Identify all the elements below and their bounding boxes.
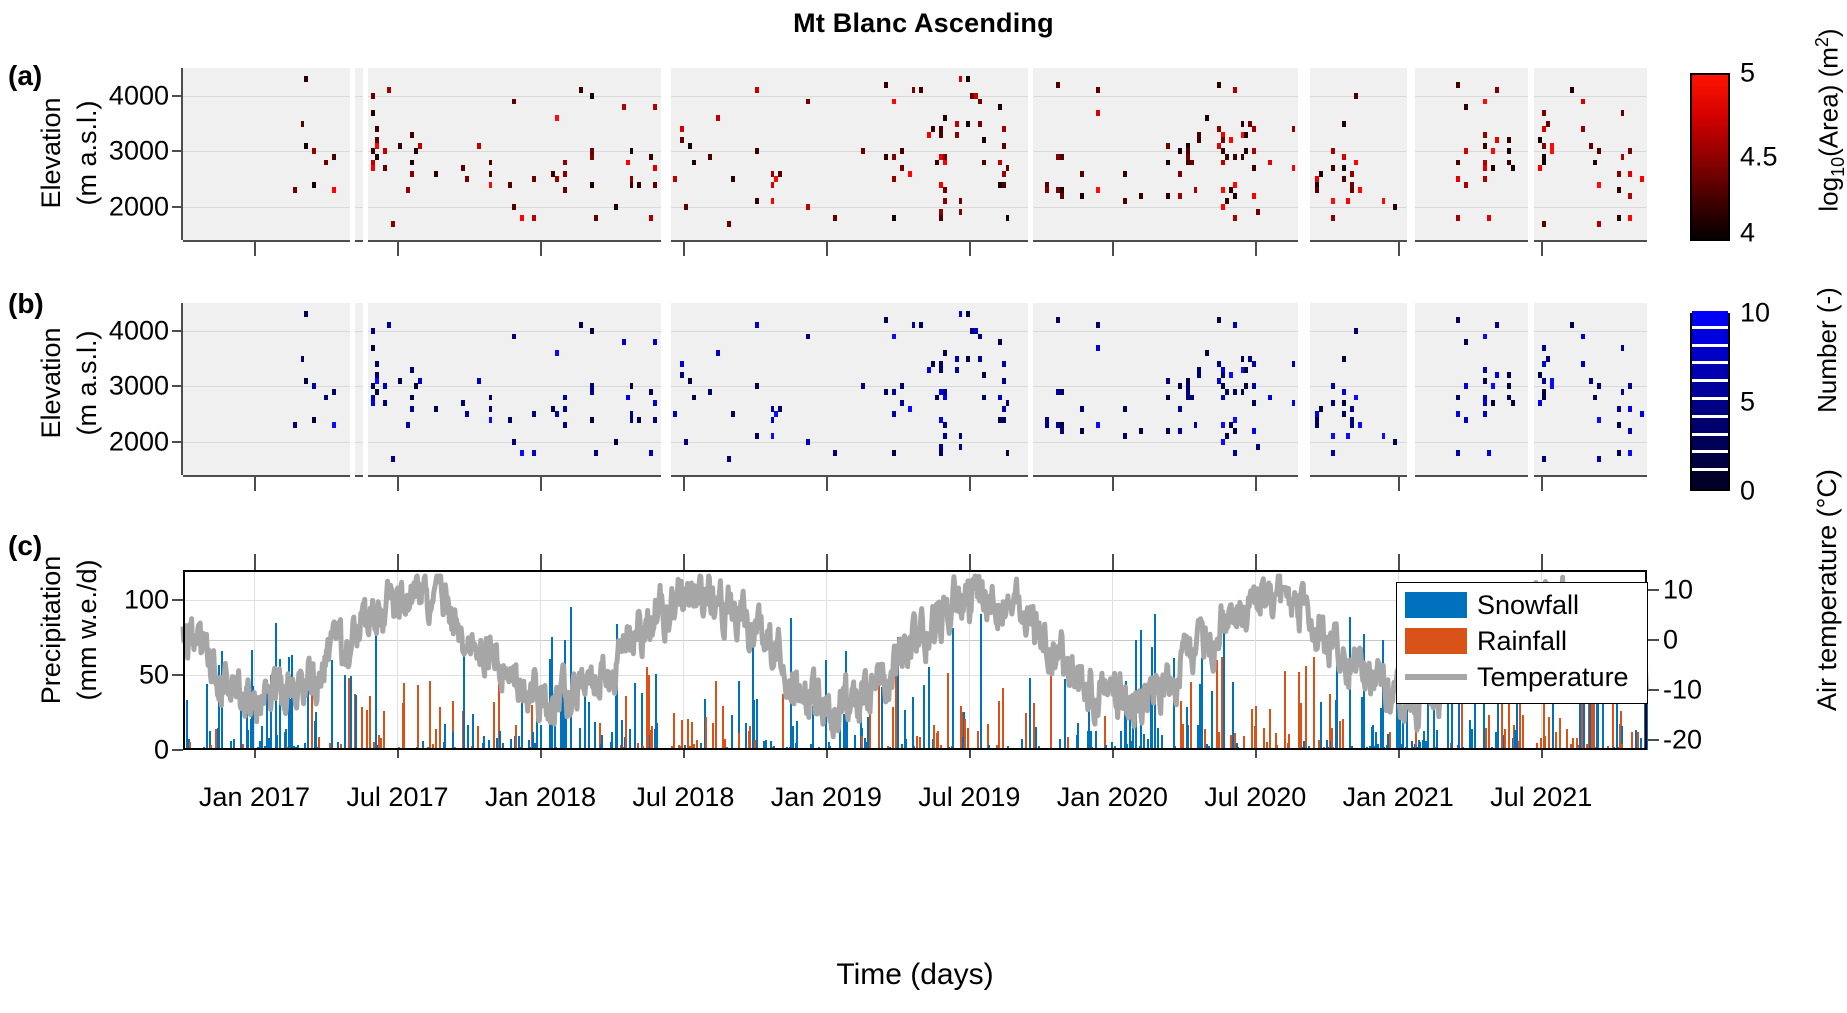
heatmap-cell (1233, 322, 1237, 328)
heatmap-cell (626, 395, 630, 401)
heatmap-cell (489, 182, 493, 188)
heatmap-cell (1483, 395, 1487, 401)
ytick-label-c-0: 0 (51, 735, 169, 766)
axis-spine-left-b (181, 303, 183, 475)
heatmap-cell (1456, 160, 1460, 166)
ytick-mark-c-100 (172, 599, 183, 601)
heatmap-cell (1617, 187, 1621, 193)
heatmap-cell (1056, 82, 1060, 88)
heatmap-cell (1002, 171, 1006, 177)
heatmap-cell (771, 182, 775, 188)
data-gap-b-5 (1407, 303, 1416, 475)
ytick-label-a-3000: 3000 (51, 136, 169, 167)
heatmap-cell (1628, 193, 1632, 199)
heatmap-cell (1589, 378, 1593, 384)
heatmap-background-a-2 (368, 68, 660, 240)
heatmap-cell (1507, 137, 1511, 143)
heatmap-cell (1464, 182, 1468, 188)
heatmap-cell (1221, 422, 1225, 428)
heatmap-cell (332, 187, 336, 193)
heatmap-cell (1002, 378, 1006, 384)
heatmap-cell (1538, 165, 1542, 171)
heatmap-cell (833, 215, 837, 221)
heatmap-cell (1542, 395, 1546, 401)
ytick-label-a-2000: 2000 (51, 191, 169, 222)
heatmap-cell (1319, 406, 1323, 412)
heatmap-cell (1495, 137, 1499, 143)
heatmap-cell (626, 160, 630, 166)
heatmap-cell (959, 311, 963, 317)
heatmap-cell (630, 148, 634, 154)
heatmap-cell (563, 160, 567, 166)
heatmap-cell (1538, 400, 1542, 406)
heatmap-cell (892, 334, 896, 340)
heatmap-cell (1483, 378, 1487, 384)
heatmap-cell (1002, 406, 1006, 412)
heatmap-cell (301, 356, 305, 362)
heatmap-cell (375, 126, 379, 132)
heatmap-cell (1006, 400, 1010, 406)
heatmap-cell (943, 350, 947, 356)
heatmap-cell (1096, 322, 1100, 328)
heatmap-cell (1491, 400, 1495, 406)
heatmap-cell (410, 171, 414, 177)
heatmap-cell (680, 126, 684, 132)
xtick-mark-a-0 (254, 240, 256, 256)
heatmap-cell (755, 322, 759, 328)
heatmap-cell (1221, 372, 1225, 378)
ytick-mark-c-right--20 (1647, 739, 1659, 741)
heatmap-cell (1640, 411, 1644, 417)
heatmap-cell (622, 339, 626, 345)
heatmap-cell (1393, 204, 1397, 210)
ytick-label-c-right-0: 0 (1663, 625, 1773, 656)
heatmap-cell (1507, 383, 1511, 389)
colorbar-a-tick-1: 4.5 (1740, 142, 1778, 173)
heatmap-cell (892, 215, 896, 221)
heatmap-cell (579, 322, 583, 328)
xtick-mark-a-2 (540, 240, 542, 256)
axis-spine-bottom-b-5 (1310, 475, 1407, 477)
heatmap-cell (1166, 378, 1170, 384)
heatmap-cell (1354, 328, 1358, 334)
heatmap-cell (489, 171, 493, 177)
colorbar-panel-a (1690, 73, 1730, 241)
heatmap-cell (332, 389, 336, 395)
heatmap-cell (806, 334, 810, 340)
heatmap-cell (1244, 383, 1248, 389)
heatmap-cell (637, 182, 641, 188)
heatmap-cell (731, 176, 735, 182)
heatmap-cell (653, 339, 657, 345)
heatmap-cell (1045, 422, 1049, 428)
heatmap-cell (1233, 154, 1237, 160)
heatmap-cell (1205, 350, 1209, 356)
heatmap-cell (1241, 121, 1245, 127)
xtick-mark-b-7 (1255, 475, 1257, 491)
ytick-label-c-right-10: 10 (1663, 575, 1773, 606)
heatmap-cell (1331, 148, 1335, 154)
heatmap-cell (1597, 417, 1601, 423)
heatmap-cell (1617, 171, 1621, 177)
heatmap-cell (1241, 389, 1245, 395)
heatmap-cell (1331, 215, 1335, 221)
heatmap-cell (461, 165, 465, 171)
heatmap-cell (900, 165, 904, 171)
heatmap-cell (371, 345, 375, 351)
heatmap-cell (1483, 160, 1487, 166)
heatmap-cell (332, 154, 336, 160)
heatmap-cell (293, 422, 297, 428)
xtick-mark-b-8 (1398, 475, 1400, 491)
heatmap-cell (966, 311, 970, 317)
heatmap-cell (1217, 82, 1221, 88)
heatmap-cell (1546, 356, 1550, 362)
heatmap-cell (312, 417, 316, 423)
data-gap-b-1 (363, 303, 368, 475)
xtick-mark-c-bot-9 (1541, 750, 1543, 758)
heatmap-cell (998, 104, 1002, 110)
xtick-mark-b-6 (1112, 475, 1114, 491)
heatmap-cell (1190, 395, 1194, 401)
heatmap-cell (590, 417, 594, 423)
heatmap-cell (692, 395, 696, 401)
heatmap-cell (512, 334, 516, 340)
heatmap-cell (1542, 160, 1546, 166)
heatmap-cell (919, 322, 923, 328)
heatmap-cell (1002, 182, 1006, 188)
heatmap-cell (1006, 165, 1010, 171)
ytick-label-c-100: 100 (51, 585, 169, 616)
heatmap-cell (563, 406, 567, 412)
colorbar-a-tick-0: 5 (1740, 58, 1755, 89)
heatmap-cell (1060, 154, 1064, 160)
heatmap-cell (1197, 372, 1201, 378)
heatmap-cell (1221, 137, 1225, 143)
xtick-mark-c-bot-8 (1398, 750, 1400, 758)
heatmap-cell (1483, 400, 1487, 406)
heatmap-cell (1483, 99, 1487, 105)
legend: Snowfall Rainfall Temperature (1396, 582, 1648, 704)
heatmap-cell (1628, 450, 1632, 456)
heatmap-cell (590, 182, 594, 188)
colorbar-b-segment-0 (1692, 471, 1728, 489)
heatmap-cell (410, 406, 414, 412)
heatmap-cell (375, 372, 379, 378)
heatmap-cell (1581, 334, 1585, 340)
legend-label-temperature: Temperature (1477, 664, 1629, 691)
ytick-label-a-4000: 4000 (51, 80, 169, 111)
heatmap-cell (371, 328, 375, 334)
axis-spine-bottom-b-1 (355, 475, 363, 477)
heatmap-cell (1511, 400, 1515, 406)
heatmap-cell (410, 160, 414, 166)
heatmap-cell (1060, 193, 1064, 199)
heatmap-cell (1221, 160, 1225, 166)
heatmap-cell (900, 148, 904, 154)
heatmap-cell (912, 87, 916, 93)
heatmap-cell (391, 221, 395, 227)
heatmap-cell (304, 311, 308, 317)
heatmap-cell (1178, 406, 1182, 412)
colorbar-b-separator-3 (1692, 433, 1728, 436)
heatmap-cell (1256, 209, 1260, 215)
heatmap-cell (1358, 187, 1362, 193)
heatmap-cell (1225, 433, 1229, 439)
heatmap-cell (1456, 450, 1460, 456)
heatmap-cell (1491, 148, 1495, 154)
heatmap-cell (1252, 400, 1256, 406)
heatmap-cell (375, 361, 379, 367)
heatmap-cell (908, 171, 912, 177)
axis-spine-bottom-a-6 (1415, 240, 1528, 242)
heatmap-cell (1346, 433, 1350, 439)
heatmap-cell (1233, 182, 1237, 188)
heatmap-cell (1456, 215, 1460, 221)
heatmap-cell (1252, 126, 1256, 132)
heatmap-cell (1221, 187, 1225, 193)
heatmap-cell (1581, 126, 1585, 132)
heatmap-cell (1342, 165, 1346, 171)
heatmap-cell (1268, 395, 1272, 401)
heatmap-cell (293, 187, 297, 193)
xtick-mark-c-bot-0 (254, 750, 256, 758)
heatmap-cell (477, 143, 481, 149)
heatmap-cell (1464, 104, 1468, 110)
heatmap-cell (1268, 160, 1272, 166)
heatmap-background-b-6 (1415, 303, 1528, 475)
heatmap-cell (1225, 389, 1229, 395)
heatmap-cell (653, 400, 657, 406)
heatmap-cell (630, 182, 634, 188)
legend-item-temperature: Temperature (1405, 659, 1637, 695)
heatmap-cell (1597, 182, 1601, 188)
heatmap-cell (410, 367, 414, 373)
heatmap-cell (959, 444, 963, 450)
heatmap-cell (1491, 383, 1495, 389)
heatmap-cell (861, 383, 865, 389)
heatmap-cell (1621, 110, 1625, 116)
heatmap-cell (1628, 148, 1632, 154)
heatmap-cell (680, 361, 684, 367)
heatmap-cell (998, 160, 1002, 166)
heatmap-cell (579, 87, 583, 93)
axis-spine-bottom-a-2 (368, 240, 660, 242)
heatmap-cell (1342, 389, 1346, 395)
heatmap-cell (590, 389, 594, 395)
xtick-mark-c-7 (1255, 554, 1257, 570)
heatmap-cell (590, 154, 594, 160)
heatmap-cell (1002, 417, 1006, 423)
xtick-mark-c-bot-1 (397, 750, 399, 758)
heatmap-cell (912, 322, 916, 328)
heatmap-cell (1080, 428, 1084, 434)
heatmap-cell (312, 148, 316, 154)
heatmap-cell (477, 378, 481, 384)
heatmap-cell (1292, 165, 1296, 171)
data-gap-b-2 (661, 303, 671, 475)
heatmap-cell (1491, 165, 1495, 171)
heatmap-cell (1542, 389, 1546, 395)
heatmap-cell (1096, 87, 1100, 93)
heatmap-cell (884, 389, 888, 395)
heatmap-cell (1331, 383, 1335, 389)
heatmap-cell (1542, 361, 1546, 367)
heatmap-cell (1593, 160, 1597, 166)
heatmap-cell (806, 439, 810, 445)
heatmap-cell (418, 378, 422, 384)
heatmap-cell (1342, 176, 1346, 182)
heatmap-cell (1123, 171, 1127, 177)
xtick-mark-a-4 (826, 240, 828, 256)
heatmap-cell (1190, 160, 1194, 166)
xtick-mark-b-3 (683, 475, 685, 491)
heatmap-background-a-1 (355, 68, 363, 240)
heatmap-cell (1483, 132, 1487, 138)
heatmap-cell (861, 148, 865, 154)
heatmap-cell (489, 406, 493, 412)
heatmap-cell (892, 450, 896, 456)
axis-spine-bottom-a-0 (183, 240, 350, 242)
xtick-mark-c-0 (254, 554, 256, 570)
heatmap-cell (387, 87, 391, 93)
heatmap-cell (1186, 383, 1190, 389)
heatmap-cell (1221, 439, 1225, 445)
heatmap-cell (1166, 160, 1170, 166)
heatmap-cell (1511, 165, 1515, 171)
heatmap-cell (649, 215, 653, 221)
heatmap-cell (1006, 215, 1010, 221)
heatmap-cell (324, 160, 328, 166)
heatmap-cell (680, 372, 684, 378)
heatmap-cell (1233, 389, 1237, 395)
heatmap-cell (398, 143, 402, 149)
heatmap-cell (1221, 395, 1225, 401)
xtick-mark-c-2 (540, 554, 542, 570)
heatmap-cell (1628, 406, 1632, 412)
heatmap-cell (1166, 143, 1170, 149)
xtick-mark-b-0 (254, 475, 256, 491)
heatmap-cell (755, 148, 759, 154)
heatmap-cell (1456, 411, 1460, 417)
heatmap-cell (1056, 317, 1060, 323)
heatmap-cell (383, 165, 387, 171)
heatmap-cell (900, 383, 904, 389)
data-gap-a-3 (1028, 68, 1033, 240)
heatmap-cell (684, 204, 688, 210)
heatmap-cell (590, 93, 594, 99)
panel-c-ylabel-line1: Precipitation (36, 500, 67, 760)
xtick-mark-a-7 (1255, 240, 1257, 256)
heatmap-background-a-0 (183, 68, 350, 240)
heatmap-cell (512, 439, 516, 445)
heatmap-cell (532, 411, 536, 417)
gridline-h-b-2000 (183, 442, 1647, 443)
heatmap-cell (727, 456, 731, 462)
heatmap-cell (1542, 143, 1546, 149)
heatmap-cell (1292, 361, 1296, 367)
heatmap-cell (982, 137, 986, 143)
heatmap-cell (955, 132, 959, 138)
heatmap-cell (1350, 422, 1354, 428)
heatmap-cell (1393, 439, 1397, 445)
colorbar-b-separator-8 (1692, 344, 1728, 347)
heatmap-cell (688, 143, 692, 149)
heatmap-cell (649, 450, 653, 456)
heatmap-cell (1331, 450, 1335, 456)
heatmap-cell (590, 383, 594, 389)
colorbar-b-separator-4 (1692, 415, 1728, 418)
heatmap-cell (489, 160, 493, 166)
heatmap-cell (1166, 428, 1170, 434)
heatmap-cell (1342, 356, 1346, 362)
heatmap-cell (1550, 378, 1554, 384)
heatmap-cell (1342, 400, 1346, 406)
axis-spine-bottom-a-4 (1033, 240, 1298, 242)
ytick-label-b-4000: 4000 (51, 315, 169, 346)
heatmap-cell (716, 115, 720, 121)
heatmap-cell (1342, 411, 1346, 417)
heatmap-cell (1233, 215, 1237, 221)
heatmap-cell (1597, 456, 1601, 462)
data-gap-a-5 (1407, 68, 1416, 240)
heatmap-cell (1233, 428, 1237, 434)
colorbar-a-label-sup: 2 (1812, 37, 1832, 47)
data-gap-b-4 (1298, 303, 1310, 475)
heatmap-cell (1002, 143, 1006, 149)
heatmap-cell (406, 422, 410, 428)
heatmap-cell (1080, 193, 1084, 199)
axis-spine-bottom-b-2 (368, 475, 660, 477)
heatmap-cell (943, 395, 947, 401)
heatmap-cell (508, 417, 512, 423)
heatmap-cell (1233, 87, 1237, 93)
panel-c-ylabel-line2: (mm w.e./d) (72, 500, 103, 760)
heatmap-cell (884, 154, 888, 160)
heatmap-cell (1252, 361, 1256, 367)
xtick-mark-b-4 (826, 475, 828, 491)
heatmap-cell (1581, 361, 1585, 367)
heatmap-cell (312, 182, 316, 188)
heatmap-cell (1331, 433, 1335, 439)
heatmap-cell (1060, 389, 1064, 395)
heatmap-cell (908, 406, 912, 412)
heatmap-cell (1640, 176, 1644, 182)
heatmap-cell (1096, 345, 1100, 351)
data-gap-a-6 (1528, 68, 1534, 240)
heatmap-cell (1342, 154, 1346, 160)
heatmap-cell (1621, 154, 1625, 160)
heatmap-cell (375, 154, 379, 160)
heatmap-cell (1241, 154, 1245, 160)
xtick-mark-c-bot-2 (540, 750, 542, 758)
heatmap-background-b-2 (368, 303, 660, 475)
heatmap-cell (884, 317, 888, 323)
heatmap-cell (943, 422, 947, 428)
heatmap-cell (383, 400, 387, 406)
heatmap-cell (1194, 422, 1198, 428)
heatmap-cell (1542, 110, 1546, 116)
colorbar-a-tick-2: 4 (1740, 217, 1755, 248)
heatmap-cell (398, 378, 402, 384)
heatmap-cell (371, 110, 375, 116)
heatmap-cell (414, 383, 418, 389)
xtick-mark-c-bot-4 (826, 750, 828, 758)
heatmap-cell (312, 383, 316, 389)
heatmap-cell (1617, 215, 1621, 221)
xtick-mark-c-3 (683, 554, 685, 570)
heatmap-cell (1550, 143, 1554, 149)
